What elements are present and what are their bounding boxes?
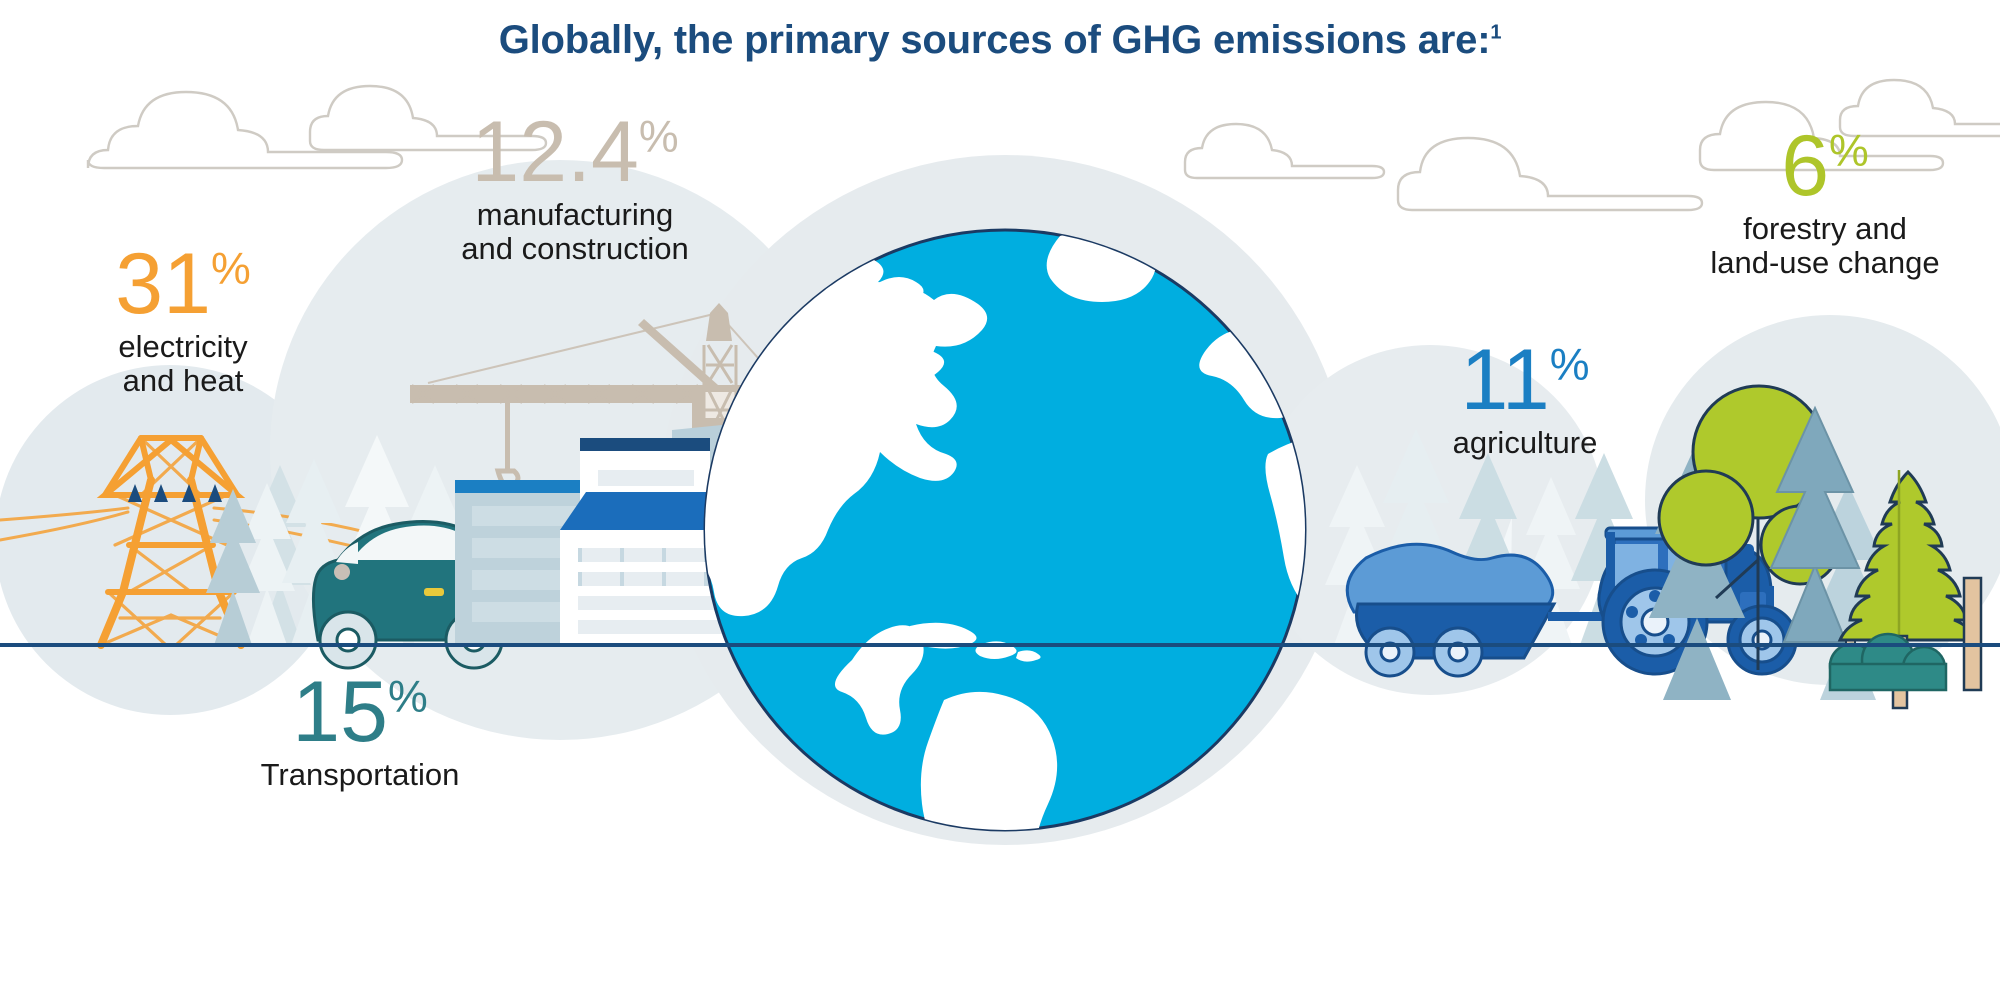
stat-agriculture: 11% agriculture	[1380, 340, 1670, 460]
stat-value-manufacturing: 12.4%	[400, 112, 750, 194]
stat-label-manufacturing: manufacturing and construction	[400, 198, 750, 267]
stat-value-agriculture: 11%	[1380, 340, 1670, 422]
stat-label-forestry: forestry and land-use change	[1660, 212, 1990, 281]
stat-label-electricity: electricity and heat	[28, 330, 338, 399]
stat-electricity-and-heat: 31% electricity and heat	[28, 244, 338, 399]
page-title: Globally, the primary sources of GHG emi…	[0, 18, 2000, 63]
footnote-marker: 1	[1490, 22, 1501, 44]
stat-value-transportation: 15%	[200, 672, 520, 754]
stat-forestry-and-land-use-change: 6% forestry and land-use change	[1660, 126, 1990, 281]
stat-manufacturing-and-construction: 12.4% manufacturing and construction	[400, 112, 750, 267]
infographic-canvas: Globally, the primary sources of GHG emi…	[0, 0, 2000, 981]
cloud-icon	[1398, 138, 1702, 210]
stat-value-forestry: 6%	[1660, 126, 1990, 208]
cloud-icon	[1185, 124, 1384, 178]
stat-transportation: 15% Transportation	[200, 672, 520, 792]
stat-label-agriculture: agriculture	[1380, 426, 1670, 461]
stat-value-electricity: 31%	[28, 244, 338, 326]
stat-label-transportation: Transportation	[200, 758, 520, 793]
page-title-text: Globally, the primary sources of GHG emi…	[499, 18, 1491, 62]
